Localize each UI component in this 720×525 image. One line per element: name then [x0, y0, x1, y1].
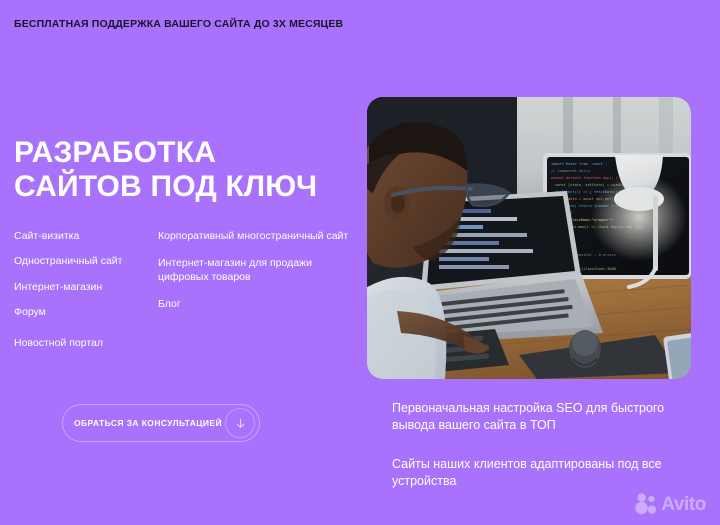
top-promo-banner: БЕСПЛАТНАЯ ПОДДЕРЖКА ВАШЕГО САЙТА ДО 3Х … [14, 17, 344, 32]
services-column-right: Корпоративный многостраничный сайт Интер… [158, 230, 362, 362]
list-item: Форум [14, 306, 144, 319]
promo-banner-text: БЕСПЛАТНАЯ ПОДДЕРЖКА ВАШЕГО САЙТА ДО 3Х … [14, 17, 344, 32]
cta-label: ОБРАТЬСЯ ЗА КОНСУЛЬТАЦИЕЙ [63, 418, 225, 428]
page-title: РАЗРАБОТКА САЙТОВ ПОД КЛЮЧ [14, 136, 374, 203]
photo-illustration: import React from 'react'; // component … [367, 97, 691, 379]
avito-watermark-text: Avito [661, 495, 706, 514]
list-item: Новостной портал [14, 337, 144, 350]
services-list: Сайт-визитка Одностраничный сайт Интерне… [14, 230, 362, 362]
consultation-cta-button[interactable]: ОБРАТЬСЯ ЗА КОНСУЛЬТАЦИЕЙ [62, 404, 260, 442]
landing-page-banner: БЕСПЛАТНАЯ ПОДДЕРЖКА ВАШЕГО САЙТА ДО 3Х … [0, 0, 720, 525]
services-column-left: Сайт-визитка Одностраничный сайт Интерне… [14, 230, 144, 362]
avito-dots-icon [635, 493, 657, 515]
list-item: Корпоративный многостраничный сайт [158, 230, 362, 243]
list-item: Интернет-магазин для продажи цифровых то… [158, 257, 362, 284]
list-item: Одностраничный сайт [14, 255, 144, 268]
arrow-down-circle-icon[interactable] [225, 408, 255, 438]
benefit-item: Первоначальная настройка SEO для быстрог… [392, 400, 692, 434]
headline-line-1: РАЗРАБОТКА [14, 136, 374, 170]
benefit-item: Сайты наших клиентов адаптированы под вс… [392, 456, 692, 490]
avito-watermark: Avito [635, 493, 706, 515]
headline-line-2: САЙТОВ ПОД КЛЮЧ [14, 170, 374, 204]
list-item: Сайт-визитка [14, 230, 144, 243]
list-item: Блог [158, 298, 362, 311]
benefits-list: Первоначальная настройка SEO для быстрог… [392, 400, 692, 490]
developer-workspace-photo: import React from 'react'; // component … [367, 97, 691, 379]
list-item: Интернет-магазин [14, 281, 144, 294]
